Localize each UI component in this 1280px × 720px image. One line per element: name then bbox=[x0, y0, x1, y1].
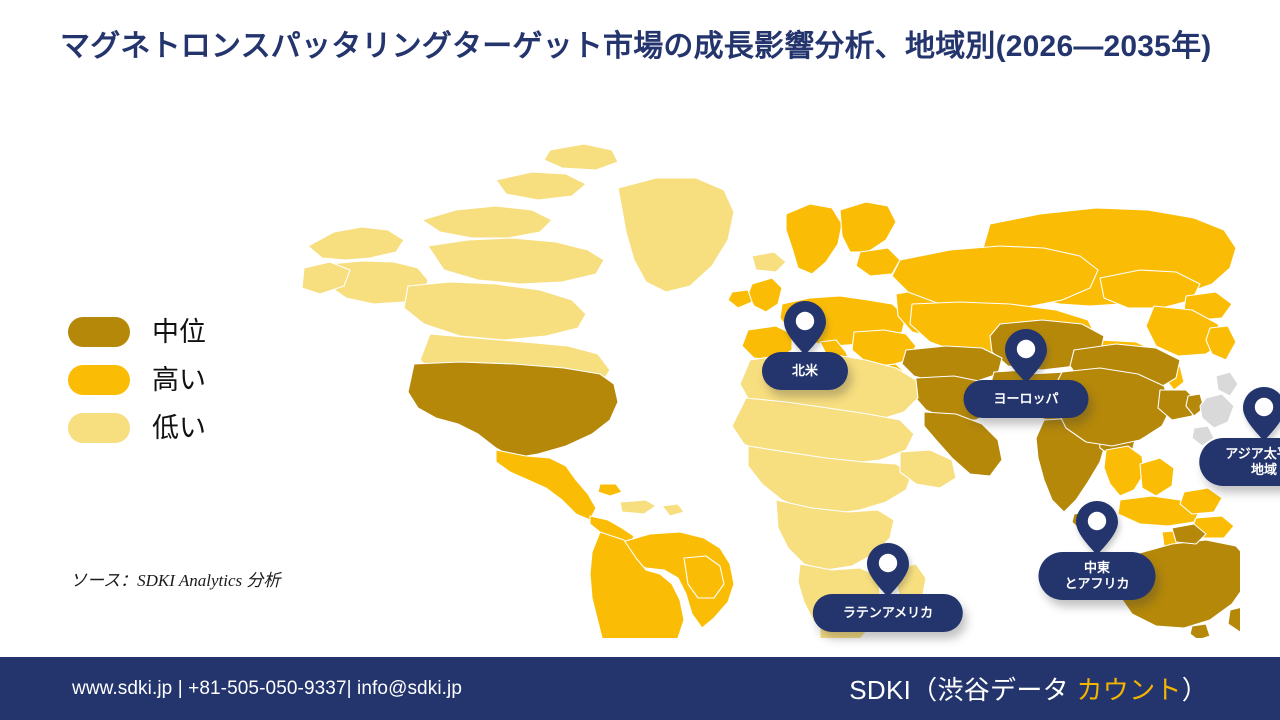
map-pin-label-north-america: 北米 bbox=[762, 352, 848, 390]
pin-label-line1: 中東 bbox=[1084, 560, 1110, 575]
location-pin-icon bbox=[1242, 386, 1280, 442]
footer-contact-info[interactable]: www.sdki.jp | +81-505-050-9337| info@sdk… bbox=[72, 678, 462, 700]
region-south-america bbox=[590, 532, 734, 638]
legend-item-low: 低い bbox=[68, 404, 318, 452]
region-canada bbox=[302, 144, 786, 396]
map-pin-label-asia-pacific: アジア太平洋 地域 bbox=[1199, 438, 1280, 486]
page-title: マグネトロンスパッタリングターゲット市場の成長影響分析、地域別(2026—203… bbox=[60, 26, 1220, 67]
infographic-slide: マグネトロンスパッタリングターゲット市場の成長影響分析、地域別(2026—203… bbox=[0, 0, 1280, 720]
location-pin-icon bbox=[1004, 328, 1048, 384]
pin-label-line2: とアフリカ bbox=[1064, 576, 1129, 591]
world-map: 北米 ヨーロッパ アジア太平洋 地域 bbox=[300, 128, 1240, 638]
legend-item-high: 高い bbox=[68, 356, 318, 404]
pin-label-line1: ヨーロッパ bbox=[993, 391, 1058, 406]
legend-swatch-medium bbox=[68, 317, 130, 347]
pin-label-line2: 地域 bbox=[1251, 462, 1277, 477]
map-pin-label-europe: ヨーロッパ bbox=[963, 380, 1088, 418]
location-pin-icon bbox=[783, 300, 827, 356]
location-pin-icon bbox=[1075, 500, 1119, 556]
location-pin-icon bbox=[866, 542, 910, 598]
legend-swatch-low bbox=[68, 413, 130, 443]
brand-prefix: SDKI（渋谷データ bbox=[849, 675, 1076, 705]
map-legend: 中位 高い 低い bbox=[68, 308, 318, 452]
source-note: ソース：SDKI Analytics 分析 bbox=[70, 566, 280, 591]
pin-label-line1: アジア太平洋 bbox=[1225, 446, 1280, 461]
pin-label-line1: 北米 bbox=[792, 363, 818, 378]
brand-suffix: ） bbox=[1182, 675, 1208, 705]
legend-label-high: 高い bbox=[152, 367, 206, 394]
legend-item-medium: 中位 bbox=[68, 308, 318, 356]
legend-label-low: 低い bbox=[152, 415, 206, 442]
map-pin-label-latin-america: ラテンアメリカ bbox=[813, 594, 963, 632]
region-mexico-central-america bbox=[496, 450, 634, 546]
footer-brand: SDKI（渋谷データ カウント） bbox=[849, 670, 1208, 707]
legend-label-medium: 中位 bbox=[152, 319, 206, 346]
brand-accent: カウント bbox=[1076, 675, 1181, 705]
region-caribbean bbox=[620, 500, 684, 516]
region-united-states bbox=[408, 362, 618, 458]
footer-bar: www.sdki.jp | +81-505-050-9337| info@sdk… bbox=[0, 657, 1280, 720]
legend-swatch-high bbox=[68, 365, 130, 395]
map-pin-label-middle-east-africa: 中東 とアフリカ bbox=[1038, 552, 1155, 600]
pin-label-line1: ラテンアメリカ bbox=[843, 605, 933, 620]
